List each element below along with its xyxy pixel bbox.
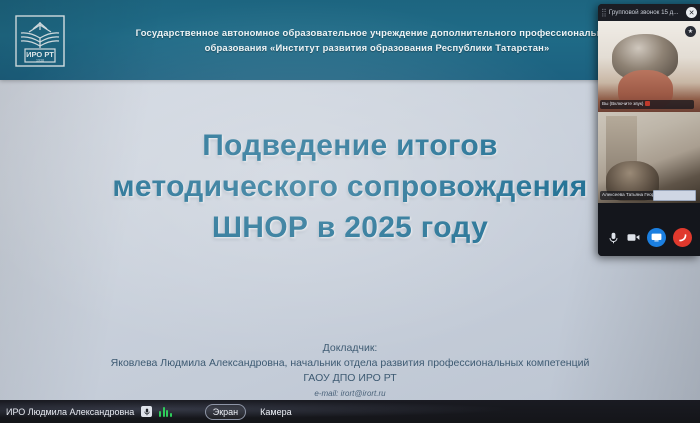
speaker-info: Докладчик: Яковлева Людмила Александровн… bbox=[0, 341, 700, 399]
audio-bar bbox=[163, 407, 165, 417]
slide-header-band: ИРО РТ 1938 Государственное автономное о… bbox=[0, 0, 700, 80]
microphone-icon[interactable] bbox=[141, 406, 152, 417]
decorative-popup-overlay bbox=[653, 190, 696, 201]
logo-year: 1938 bbox=[36, 59, 44, 63]
institution-name-line1: Государственное автономное образовательн… bbox=[68, 25, 686, 40]
pin-badge-icon[interactable]: ★ bbox=[685, 26, 696, 37]
audio-bar bbox=[166, 410, 168, 417]
call-window-titlebar[interactable]: ⣿ Групповой звонок 15 д... ✕ bbox=[598, 4, 700, 21]
drag-grip-icon[interactable]: ⣿ bbox=[601, 9, 606, 17]
iro-rt-logo: ИРО РТ 1938 bbox=[12, 11, 68, 69]
video-tile-participant[interactable]: Алексеева Татьяна Георгиевна › bbox=[598, 112, 700, 203]
screen-share-icon[interactable] bbox=[647, 228, 666, 247]
call-controls-bar[interactable] bbox=[598, 219, 700, 256]
audio-bars-icon bbox=[159, 406, 172, 417]
video-tile-self-feed bbox=[598, 21, 700, 112]
camera-icon[interactable] bbox=[627, 231, 640, 244]
slide-title: Подведение итогов методического сопровож… bbox=[0, 126, 700, 248]
slide-title-line3: ШНОР в 2025 году bbox=[0, 208, 700, 249]
video-tile-self-name: Вы (Включите звук) bbox=[602, 101, 643, 106]
microphone-icon[interactable] bbox=[607, 231, 620, 244]
audio-bar bbox=[159, 411, 161, 417]
speaker-email: e-mail: irort@irort.ru bbox=[0, 388, 700, 400]
slide-title-line2: методического сопровождения bbox=[0, 167, 700, 208]
speaker-name: Яковлева Людмила Александровна, начальни… bbox=[0, 356, 700, 371]
video-tile-self-label: Вы (Включите звук) bbox=[600, 100, 694, 109]
taskbar-user-name: ИРО Людмила Александровна bbox=[6, 407, 134, 417]
screen-button[interactable]: Экран bbox=[205, 404, 246, 420]
close-icon[interactable]: ✕ bbox=[686, 7, 697, 18]
bottom-taskbar[interactable]: ИРО Людмила Александровна Экран Камера bbox=[0, 400, 700, 423]
projected-slide: ИРО РТ 1938 Государственное автономное о… bbox=[0, 0, 700, 400]
muted-mic-icon bbox=[645, 101, 650, 106]
call-window-title: Групповой звонок 15 д... bbox=[609, 9, 683, 16]
speaker-organization: ГАОУ ДПО ИРО РТ bbox=[0, 371, 700, 386]
speaker-role-label: Докладчик: bbox=[0, 341, 700, 356]
end-call-icon[interactable] bbox=[673, 228, 692, 247]
institution-name-line2: образования «Институт развития образован… bbox=[68, 40, 686, 55]
camera-button[interactable]: Камера bbox=[253, 405, 298, 419]
video-tile-self[interactable]: ★ Вы (Включите звук) bbox=[598, 21, 700, 112]
slide-title-line1: Подведение итогов bbox=[0, 126, 700, 167]
audio-bar bbox=[170, 413, 172, 417]
video-call-window[interactable]: ⣿ Групповой звонок 15 д... ✕ ★ Вы (Включ… bbox=[598, 4, 700, 256]
